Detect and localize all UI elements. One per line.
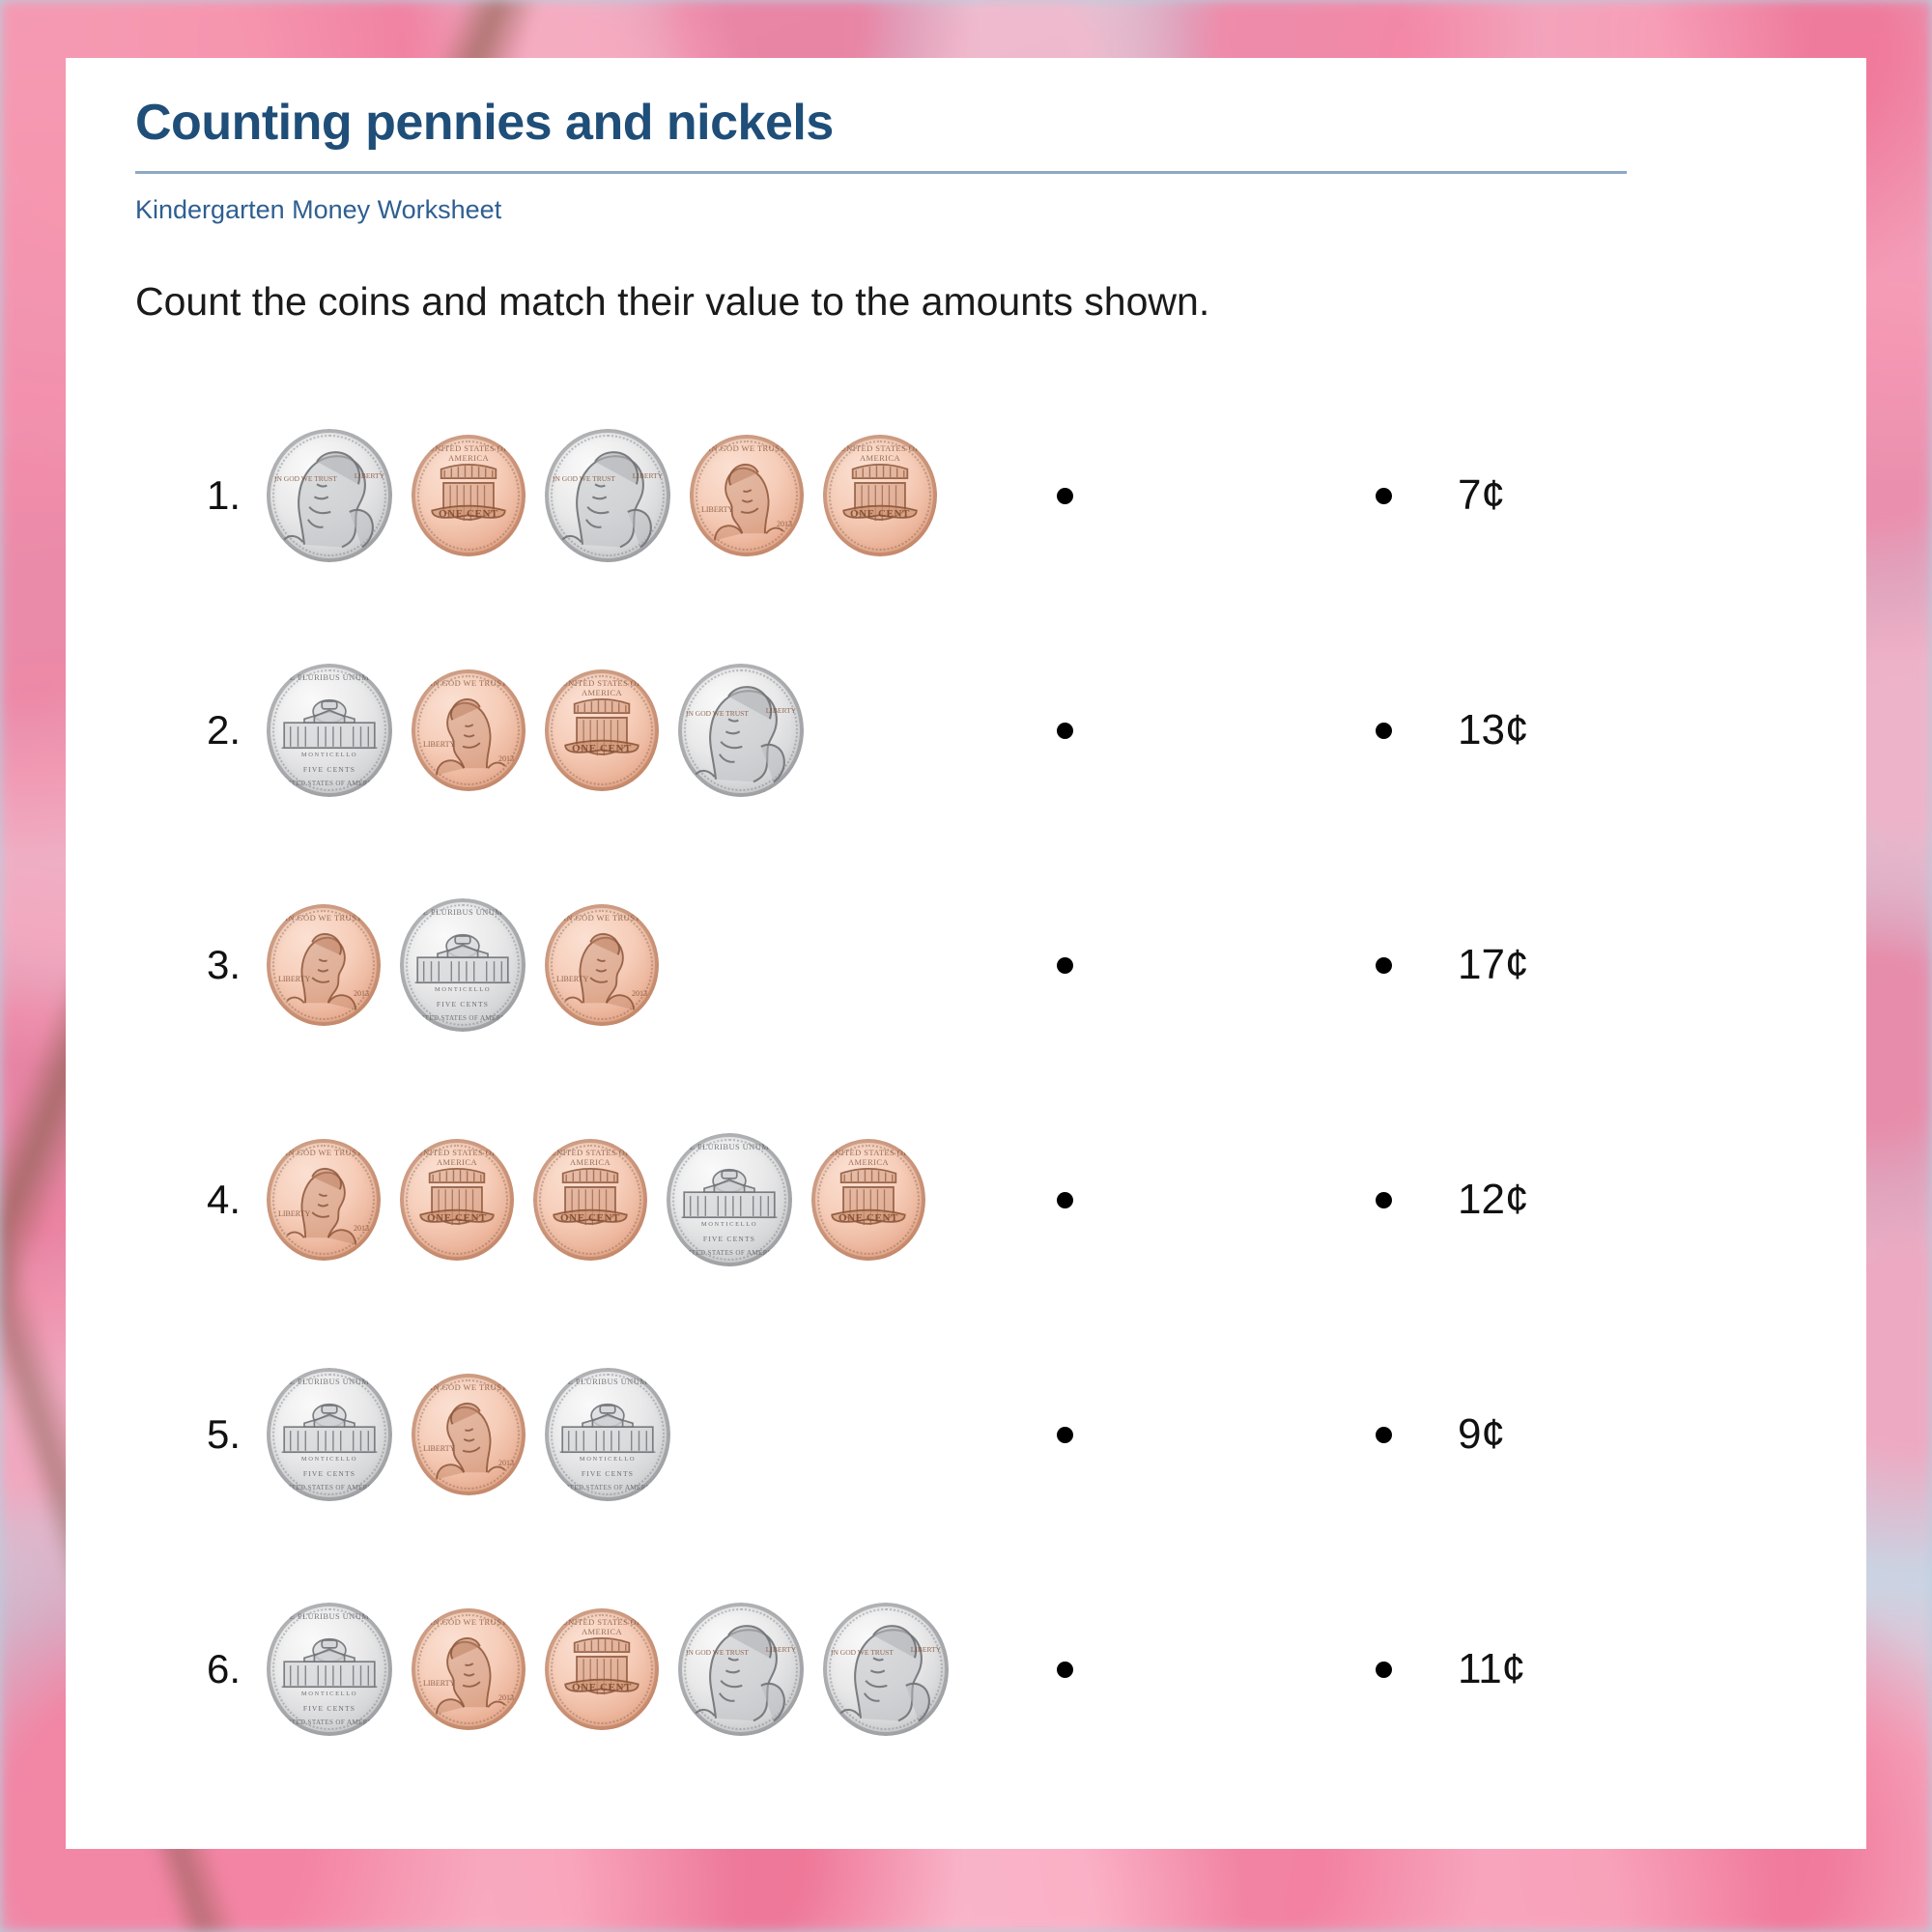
lincoln-profile-icon <box>412 669 526 791</box>
amount-label: 17¢ <box>1458 941 1564 989</box>
denomination-label: FIVE CENTS <box>267 1704 392 1713</box>
coin-group: IN GOD WE TRUST LIBERTY 2013 E PLURIBUS … <box>267 898 1057 1032</box>
problem-row: 4. IN GOD WE TRUST LIBERTY 2013 UNITED S… <box>66 1083 1866 1318</box>
one-cent-banner-text: ONE CENT <box>545 1682 659 1693</box>
coin-legend-right: LIBERTY <box>911 1645 941 1654</box>
amount-label: 12¢ <box>1458 1176 1564 1224</box>
coin-nickel-reverse: E PLURIBUS UNUM MONTICELLO FIVE CENTS UN… <box>545 1368 670 1501</box>
problem-number: 6. <box>207 1646 267 1692</box>
match-dot-right[interactable] <box>1376 488 1392 504</box>
lincoln-profile-icon <box>267 904 381 1026</box>
amount-label: 7¢ <box>1458 471 1564 520</box>
monticello-label: MONTICELLO <box>400 986 526 993</box>
coin-legend-right: 2013 <box>498 754 514 763</box>
union-shield-icon <box>823 435 937 556</box>
match-dot-left[interactable] <box>1057 1427 1073 1443</box>
coin-penny-obverse: IN GOD WE TRUST LIBERTY 2013 <box>690 435 804 556</box>
amount-cell: 9¢ <box>1376 1410 1564 1459</box>
coin-legend-bottom: UNITED STATES OF AMERICA <box>667 1249 792 1257</box>
coin-nickel-obverse: IN GOD WE TRUST LIBERTY <box>678 1603 804 1736</box>
lincoln-profile-icon <box>412 1608 526 1730</box>
coin-nickel-reverse: E PLURIBUS UNUM MONTICELLO FIVE CENTS UN… <box>667 1133 792 1266</box>
problem-row: 1. IN GOD WE TRUST LIBERTY UNITED STATES… <box>66 379 1866 613</box>
coin-penny-reverse: UNITED STATES OF AMERICA ONE CENT <box>545 669 659 791</box>
union-shield-icon <box>400 1139 514 1261</box>
problem-row: 3. IN GOD WE TRUST LIBERTY 2013 E PLURIB… <box>66 848 1866 1083</box>
coin-penny-reverse: UNITED STATES OF AMERICA ONE CENT <box>533 1139 647 1261</box>
coin-nickel-reverse: E PLURIBUS UNUM MONTICELLO FIVE CENTS UN… <box>267 664 392 797</box>
problem-number: 1. <box>207 472 267 519</box>
jefferson-profile-icon <box>823 1603 949 1736</box>
lincoln-profile-icon <box>267 1139 381 1261</box>
problem-number: 4. <box>207 1177 267 1223</box>
problem-row: 5. E PLURIBUS UNUM MONTICELLO FIVE CENTS… <box>66 1318 1866 1552</box>
coin-group: E PLURIBUS UNUM MONTICELLO FIVE CENTS UN… <box>267 1368 1057 1501</box>
coin-penny-obverse: IN GOD WE TRUST LIBERTY 2013 <box>267 904 381 1026</box>
coin-group: E PLURIBUS UNUM MONTICELLO FIVE CENTS UN… <box>267 664 1057 797</box>
coin-penny-reverse: UNITED STATES OF AMERICA ONE CENT <box>811 1139 925 1261</box>
coin-legend-left: LIBERTY <box>423 1444 455 1453</box>
coin-legend-left: LIBERTY <box>423 740 455 749</box>
match-dot-right[interactable] <box>1376 1662 1392 1678</box>
page-subtitle: Kindergarten Money Worksheet <box>135 195 1797 225</box>
match-dot-right[interactable] <box>1376 957 1392 974</box>
amount-cell: 17¢ <box>1376 941 1564 989</box>
monticello-building-icon <box>400 898 526 1032</box>
coin-penny-reverse: UNITED STATES OF AMERICA ONE CENT <box>823 435 937 556</box>
union-shield-icon <box>533 1139 647 1261</box>
coin-legend-right: LIBERTY <box>766 1645 796 1654</box>
coin-nickel-reverse: E PLURIBUS UNUM MONTICELLO FIVE CENTS UN… <box>267 1603 392 1736</box>
monticello-building-icon <box>267 1368 392 1501</box>
lincoln-profile-icon <box>690 435 804 556</box>
coin-group: IN GOD WE TRUST LIBERTY UNITED STATES OF… <box>267 429 1057 562</box>
coin-legend-bottom: UNITED STATES OF AMERICA <box>267 1719 392 1726</box>
one-cent-banner-text: ONE CENT <box>412 508 526 520</box>
monticello-building-icon <box>267 1603 392 1736</box>
coin-penny-reverse: UNITED STATES OF AMERICA ONE CENT <box>400 1139 514 1261</box>
one-cent-banner-text: ONE CENT <box>545 743 659 754</box>
match-dot-left-cell <box>1057 488 1376 504</box>
coin-legend-left: IN GOD WE TRUST <box>274 474 337 483</box>
one-cent-banner-text: ONE CENT <box>400 1212 514 1224</box>
match-dot-left-cell <box>1057 1427 1376 1443</box>
jefferson-profile-icon <box>678 664 804 797</box>
coin-legend-left: LIBERTY <box>556 975 588 983</box>
coin-legend-left: IN GOD WE TRUST <box>686 709 749 718</box>
coin-penny-obverse: IN GOD WE TRUST LIBERTY 2013 <box>412 669 526 791</box>
denomination-label: FIVE CENTS <box>267 1469 392 1478</box>
one-cent-banner-text: ONE CENT <box>811 1212 925 1224</box>
coin-legend-left: LIBERTY <box>278 975 310 983</box>
coin-nickel-obverse: IN GOD WE TRUST LIBERTY <box>823 1603 949 1736</box>
denomination-label: FIVE CENTS <box>545 1469 670 1478</box>
problem-row: 2. E PLURIBUS UNUM MONTICELLO FIVE CENTS… <box>66 613 1866 848</box>
monticello-label: MONTICELLO <box>667 1221 792 1228</box>
page-title: Counting pennies and nickels <box>135 97 1797 150</box>
worksheet-page: Counting pennies and nickels Kindergarte… <box>66 58 1866 1849</box>
jefferson-profile-icon <box>545 429 670 562</box>
coin-group: IN GOD WE TRUST LIBERTY 2013 UNITED STAT… <box>267 1133 1057 1266</box>
amount-label: 11¢ <box>1458 1645 1564 1693</box>
coin-legend-left: LIBERTY <box>278 1209 310 1218</box>
amount-label: 9¢ <box>1458 1410 1564 1459</box>
coin-penny-obverse: IN GOD WE TRUST LIBERTY 2013 <box>412 1374 526 1495</box>
coin-legend-bottom: UNITED STATES OF AMERICA <box>267 780 392 787</box>
coin-legend-right: 2013 <box>498 1459 514 1467</box>
amount-cell: 13¢ <box>1376 706 1564 754</box>
coin-nickel-obverse: IN GOD WE TRUST LIBERTY <box>267 429 392 562</box>
monticello-building-icon <box>667 1133 792 1266</box>
coin-legend-right: 2013 <box>777 520 792 528</box>
match-dot-right[interactable] <box>1376 1192 1392 1208</box>
coin-legend-left: LIBERTY <box>701 505 733 514</box>
coin-legend-right: 2013 <box>498 1693 514 1702</box>
coin-legend-right: LIBERTY <box>766 706 796 715</box>
jefferson-profile-icon <box>267 429 392 562</box>
monticello-label: MONTICELLO <box>267 752 392 758</box>
problem-number: 5. <box>207 1411 267 1458</box>
coin-group: E PLURIBUS UNUM MONTICELLO FIVE CENTS UN… <box>267 1603 1057 1736</box>
coin-legend-right: 2013 <box>354 1224 369 1233</box>
coin-penny-obverse: IN GOD WE TRUST LIBERTY 2013 <box>545 904 659 1026</box>
denomination-label: FIVE CENTS <box>667 1235 792 1243</box>
match-dot-left-cell <box>1057 1662 1376 1678</box>
one-cent-banner-text: ONE CENT <box>823 508 937 520</box>
match-dot-left[interactable] <box>1057 1662 1073 1678</box>
match-dot-left-cell <box>1057 723 1376 739</box>
coin-legend-right: LIBERTY <box>355 471 384 480</box>
amount-cell: 12¢ <box>1376 1176 1564 1224</box>
monticello-label: MONTICELLO <box>267 1690 392 1697</box>
union-shield-icon <box>545 1608 659 1730</box>
coin-penny-obverse: IN GOD WE TRUST LIBERTY 2013 <box>267 1139 381 1261</box>
coin-legend-left: IN GOD WE TRUST <box>831 1648 894 1657</box>
coin-nickel-obverse: IN GOD WE TRUST LIBERTY <box>678 664 804 797</box>
problem-number: 2. <box>207 707 267 753</box>
coin-nickel-reverse: E PLURIBUS UNUM MONTICELLO FIVE CENTS UN… <box>267 1368 392 1501</box>
coin-legend-right: LIBERTY <box>633 471 663 480</box>
amount-cell: 11¢ <box>1376 1645 1564 1693</box>
coin-legend-left: IN GOD WE TRUST <box>686 1648 749 1657</box>
union-shield-icon <box>412 435 526 556</box>
coin-legend-bottom: UNITED STATES OF AMERICA <box>267 1484 392 1492</box>
lincoln-profile-icon <box>545 904 659 1026</box>
amount-label: 13¢ <box>1458 706 1564 754</box>
coin-legend-bottom: UNITED STATES OF AMERICA <box>400 1014 526 1022</box>
match-dot-left[interactable] <box>1057 723 1073 739</box>
union-shield-icon <box>811 1139 925 1261</box>
union-shield-icon <box>545 669 659 791</box>
coin-nickel-reverse: E PLURIBUS UNUM MONTICELLO FIVE CENTS UN… <box>400 898 526 1032</box>
coin-penny-reverse: UNITED STATES OF AMERICA ONE CENT <box>545 1608 659 1730</box>
monticello-building-icon <box>545 1368 670 1501</box>
match-dot-right[interactable] <box>1376 1427 1392 1443</box>
monticello-label: MONTICELLO <box>545 1456 670 1463</box>
one-cent-banner-text: ONE CENT <box>533 1212 647 1224</box>
match-dot-left-cell <box>1057 957 1376 974</box>
monticello-label: MONTICELLO <box>267 1456 392 1463</box>
instruction-text: Count the coins and match their value to… <box>135 279 1866 325</box>
jefferson-profile-icon <box>678 1603 804 1736</box>
problem-number: 3. <box>207 942 267 988</box>
coin-legend-left: LIBERTY <box>423 1679 455 1688</box>
denomination-label: FIVE CENTS <box>400 1000 526 1009</box>
coin-legend-bottom: UNITED STATES OF AMERICA <box>545 1484 670 1492</box>
monticello-building-icon <box>267 664 392 797</box>
denomination-label: FIVE CENTS <box>267 765 392 774</box>
coin-penny-obverse: IN GOD WE TRUST LIBERTY 2013 <box>412 1608 526 1730</box>
match-dot-left[interactable] <box>1057 488 1073 504</box>
worksheet-header: Counting pennies and nickels Kindergarte… <box>66 97 1866 225</box>
coin-legend-right: 2013 <box>354 989 369 998</box>
match-dot-left[interactable] <box>1057 957 1073 974</box>
problem-list: 1. IN GOD WE TRUST LIBERTY UNITED STATES… <box>66 379 1866 1787</box>
amount-cell: 7¢ <box>1376 471 1564 520</box>
match-dot-right[interactable] <box>1376 723 1392 739</box>
coin-nickel-obverse: IN GOD WE TRUST LIBERTY <box>545 429 670 562</box>
coin-legend-left: IN GOD WE TRUST <box>553 474 615 483</box>
lincoln-profile-icon <box>412 1374 526 1495</box>
match-dot-left[interactable] <box>1057 1192 1073 1208</box>
problem-row: 6. E PLURIBUS UNUM MONTICELLO FIVE CENTS… <box>66 1552 1866 1787</box>
title-divider <box>135 171 1627 174</box>
coin-penny-reverse: UNITED STATES OF AMERICA ONE CENT <box>412 435 526 556</box>
match-dot-left-cell <box>1057 1192 1376 1208</box>
coin-legend-right: 2013 <box>632 989 647 998</box>
